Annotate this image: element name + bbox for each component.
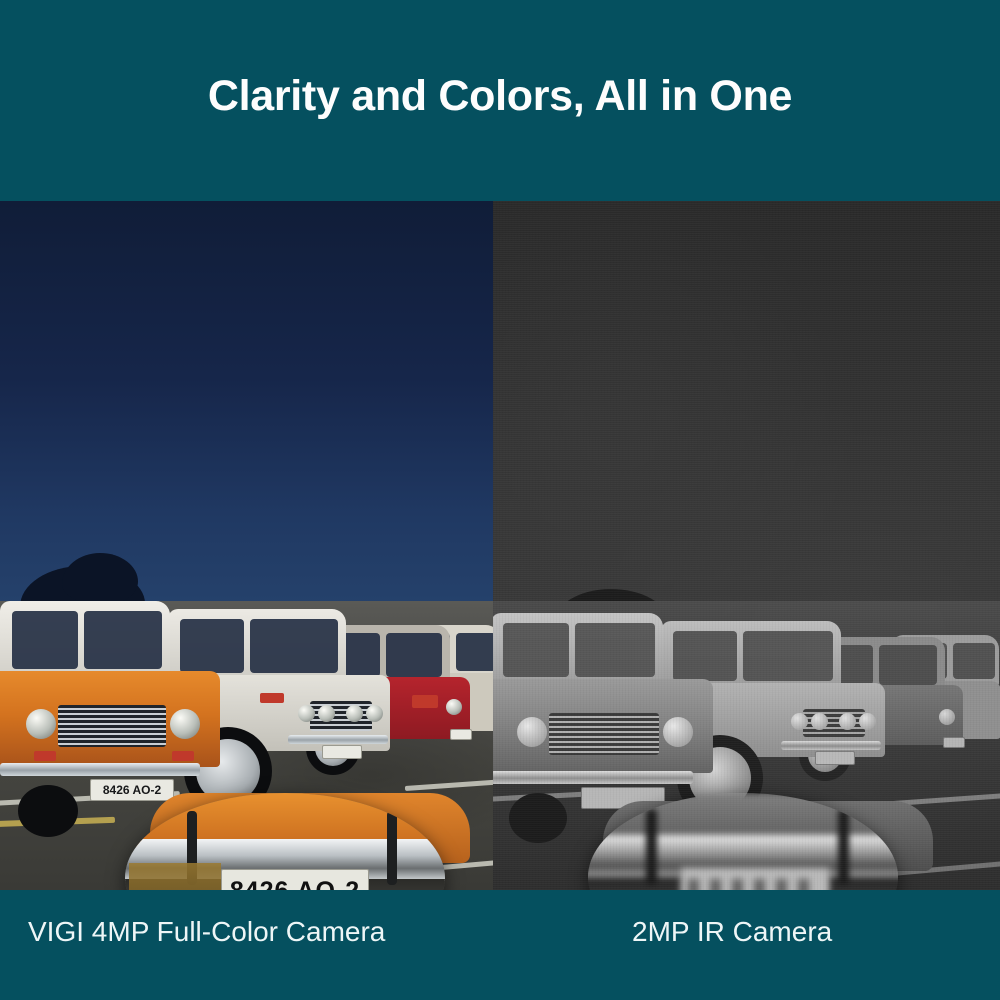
ir-sky — [493, 201, 1000, 642]
caption-bar: VIGI 4MP Full-Color Camera 2MP IR Camera — [0, 890, 1000, 1000]
ir-loupe-bumper-bar-right — [838, 809, 849, 885]
caption-color-camera: VIGI 4MP Full-Color Camera — [28, 916, 385, 948]
loupe-bumper-bar-right — [387, 811, 397, 885]
ir-loupe-bumper-bar-left — [646, 809, 657, 885]
magnifier-loupe-color: 8426 AO-2 — [125, 793, 445, 890]
loupe-amber-reflection — [129, 863, 221, 890]
ir-loupe-plate-smudge — [688, 879, 820, 890]
magnifier-loupe-ir — [588, 793, 898, 890]
header-banner: Clarity and Colors, All in One — [0, 0, 1000, 201]
tree-silhouette-2 — [62, 553, 138, 605]
comparison-strip: ПРИЛЕТА — [0, 201, 1000, 890]
loupe-license-plate: 8426 AO-2 — [221, 869, 369, 890]
ir-camera-panel — [493, 201, 1000, 890]
color-camera-panel: ПРИЛЕТА — [0, 201, 493, 890]
ir-plate-red-lada — [943, 737, 965, 748]
page-title: Clarity and Colors, All in One — [208, 72, 792, 121]
caption-ir-camera: 2MP IR Camera — [632, 916, 832, 948]
ir-plate-white-lada — [815, 751, 855, 765]
plate-red-lada — [450, 729, 472, 740]
plate-white-lada — [322, 745, 362, 759]
